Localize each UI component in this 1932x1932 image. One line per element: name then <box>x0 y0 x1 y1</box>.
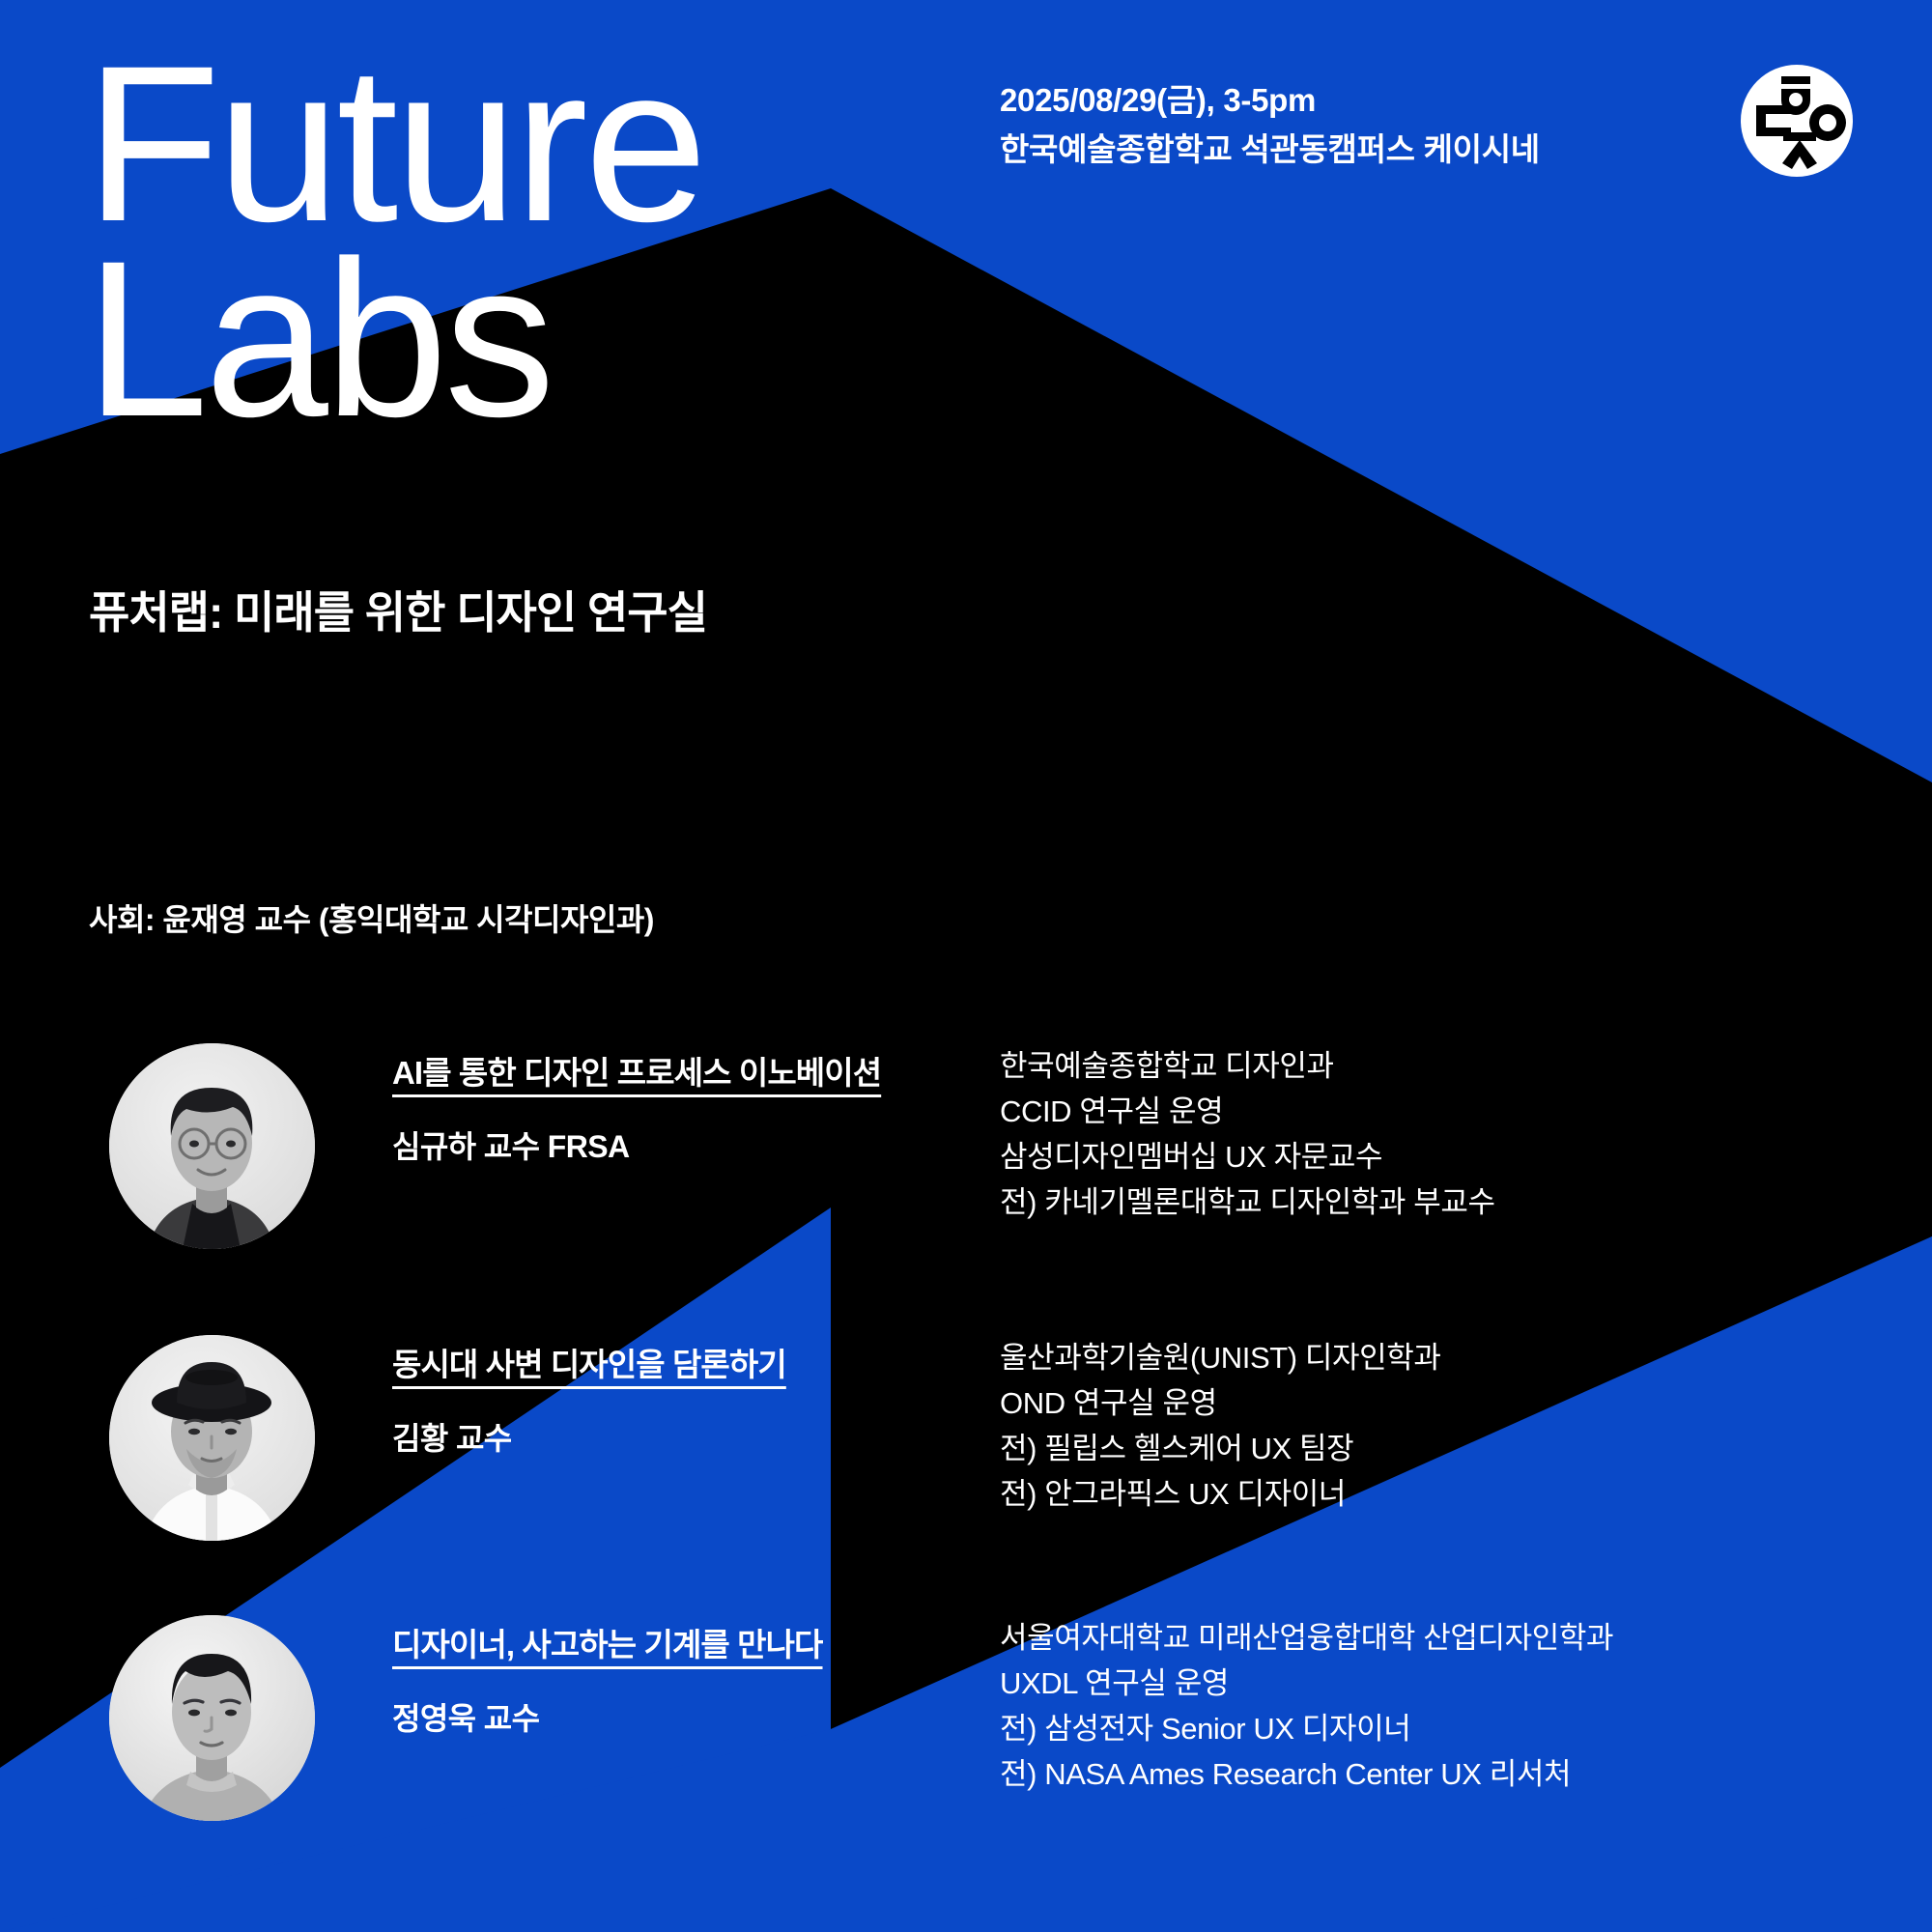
event-meta: 2025/08/29(금), 3-5pm 한국예술종합학교 석관동캠퍼스 케이시… <box>1000 75 1540 174</box>
event-datetime: 2025/08/29(금), 3-5pm <box>1000 75 1540 125</box>
bio-line: 삼성디자인멤버십 UX 자문교수 <box>1000 1134 1495 1179</box>
bio-line: OND 연구실 운영 <box>1000 1380 1441 1426</box>
moderator-line: 사회: 윤재영 교수 (홍익대학교 시각디자인과) <box>89 895 654 940</box>
karts-logo-icon <box>1739 63 1855 179</box>
bio-line: 전) 필립스 헬스케어 UX 팀장 <box>1000 1426 1441 1471</box>
talk-title: 동시대 사변 디자인을 담론하기 <box>392 1339 786 1385</box>
university-logo <box>1739 63 1855 179</box>
speaker-bio: 한국예술종합학교 디자인과 CCID 연구실 운영 삼성디자인멤버십 UX 자문… <box>1000 1043 1495 1225</box>
bio-line: UXDL 연구실 운영 <box>1000 1661 1613 1706</box>
talk-title: 디자이너, 사고하는 기계를 만나다 <box>392 1619 823 1665</box>
wordmark-line-1: Future <box>85 46 704 241</box>
bio-line: CCID 연구실 운영 <box>1000 1089 1495 1134</box>
bio-line: 한국예술종합학교 디자인과 <box>1000 1043 1495 1089</box>
page-title: Future Labs <box>85 46 704 438</box>
talk-info: 디자이너, 사고하는 기계를 만나다 정영욱 교수 <box>392 1619 823 1739</box>
bio-line: 서울여자대학교 미래산업융합대학 산업디자인학과 <box>1000 1615 1613 1661</box>
portrait-sim-gyuha-icon <box>109 1043 315 1249</box>
bio-line: 전) 안그라픽스 UX 디자이너 <box>1000 1471 1441 1517</box>
event-venue: 한국예술종합학교 석관동캠퍼스 케이시네 <box>1000 125 1540 174</box>
speaker-bio: 울산과학기술원(UNIST) 디자인학과 OND 연구실 운영 전) 필립스 헬… <box>1000 1335 1441 1517</box>
poster-content: 2025/08/29(금), 3-5pm 한국예술종합학교 석관동캠퍼스 케이시… <box>0 0 1932 1932</box>
avatar <box>109 1043 315 1249</box>
page-subtitle: 퓨처랩: 미래를 위한 디자인 연구실 <box>89 578 707 641</box>
speaker-name: 김황 교수 <box>392 1414 786 1459</box>
talk-info: 동시대 사변 디자인을 담론하기 김황 교수 <box>392 1339 786 1459</box>
bio-line: 전) 삼성전자 Senior UX 디자이너 <box>1000 1706 1613 1751</box>
portrait-kim-hwang-icon <box>109 1335 315 1541</box>
avatar <box>109 1335 315 1541</box>
avatar <box>109 1615 315 1821</box>
bio-line: 울산과학기술원(UNIST) 디자인학과 <box>1000 1335 1441 1380</box>
speaker-name: 정영욱 교수 <box>392 1694 823 1739</box>
bio-line: 전) NASA Ames Research Center UX 리서처 <box>1000 1751 1613 1797</box>
speaker-name: 심규하 교수 FRSA <box>392 1122 881 1167</box>
wordmark-line-2: Labs <box>85 241 704 437</box>
talk-title: AI를 통한 디자인 프로세스 이노베이션 <box>392 1047 881 1094</box>
speaker-bio: 서울여자대학교 미래산업융합대학 산업디자인학과 UXDL 연구실 운영 전) … <box>1000 1615 1613 1797</box>
talk-info: AI를 통한 디자인 프로세스 이노베이션 심규하 교수 FRSA <box>392 1047 881 1167</box>
portrait-jung-youngwook-icon <box>109 1615 315 1821</box>
bio-line: 전) 카네기멜론대학교 디자인학과 부교수 <box>1000 1179 1495 1225</box>
